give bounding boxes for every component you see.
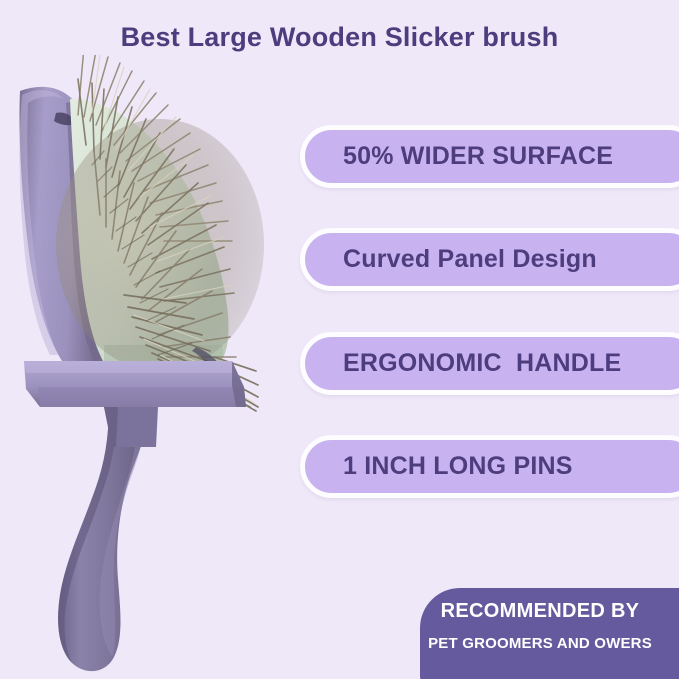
feature-label-2: ERGONOMIC HANDLE xyxy=(343,349,621,378)
badge-headline: RECOMMENDED BY xyxy=(420,600,679,623)
feature-pill-0: 50% WIDER SURFACE xyxy=(300,125,679,188)
feature-label-0: 50% WIDER SURFACE xyxy=(343,142,613,171)
feature-pill-2: ERGONOMIC HANDLE xyxy=(300,332,679,395)
recommended-badge: RECOMMENDED BY PET GROOMERS AND OWERS xyxy=(420,588,679,679)
product-image-slicker-brush xyxy=(0,55,300,679)
feature-pill-3: 1 INCH LONG PINS xyxy=(300,435,679,498)
page-title: Best Large Wooden Slicker brush xyxy=(0,22,679,53)
feature-label-1: Curved Panel Design xyxy=(343,245,597,274)
product-infographic: Best Large Wooden Slicker brush xyxy=(0,0,679,679)
feature-pill-1: Curved Panel Design xyxy=(300,228,679,291)
feature-label-3: 1 INCH LONG PINS xyxy=(343,452,573,481)
pin-mass xyxy=(56,119,264,371)
badge-subline: PET GROOMERS AND OWERS xyxy=(420,635,679,652)
